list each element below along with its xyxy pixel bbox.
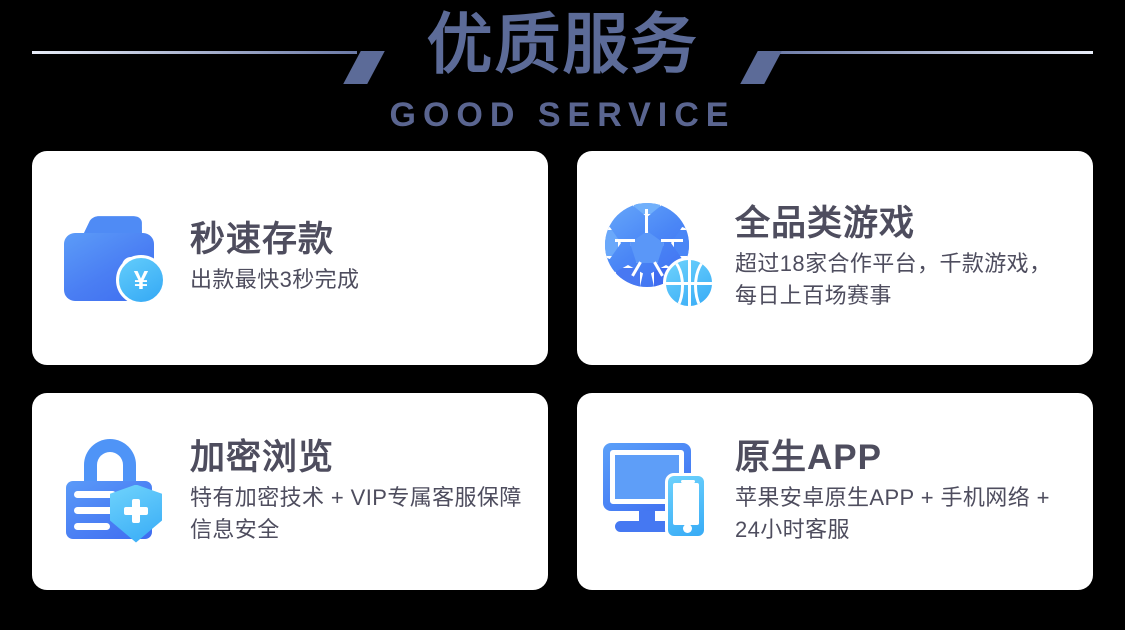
wallet-yen-icon: ¥ <box>58 199 176 317</box>
card-description: 苹果安卓原生APP + 手机网络 + 24小时客服 <box>735 482 1071 545</box>
lock-stripe <box>74 491 116 498</box>
card-description: 出款最快3秒完成 <box>190 264 526 296</box>
card-title: 原生APP <box>735 438 1071 477</box>
feature-card-games[interactable]: 全品类游戏 超过18家合作平台，千款游戏，每日上百场赛事 <box>577 151 1093 365</box>
card-description: 特有加密技术 + VIP专属客服保障信息安全 <box>190 482 526 545</box>
monitor-phone-icon <box>603 433 721 551</box>
card-title: 全品类游戏 <box>735 204 1071 243</box>
yen-coin-icon: ¥ <box>116 255 166 305</box>
soccer-panel <box>671 227 689 259</box>
basketball-icon <box>663 257 715 309</box>
feature-card-grid: ¥ 秒速存款 出款最快3秒完成 <box>32 151 1093 590</box>
soccer-center-pentagon <box>630 231 664 263</box>
card-text-block: 加密浏览 特有加密技术 + VIP专属客服保障信息安全 <box>190 438 526 546</box>
basketball-seam <box>694 257 715 309</box>
soccer-seam <box>615 239 635 242</box>
card-text-block: 秒速存款 出款最快3秒完成 <box>190 220 526 296</box>
page-title-en: GOOD SERVICE <box>0 96 1125 135</box>
lock-shield-icon <box>58 433 176 551</box>
phone-speaker <box>681 480 695 483</box>
soccer-seam <box>645 209 648 233</box>
card-text-block: 原生APP 苹果安卓原生APP + 手机网络 + 24小时客服 <box>735 438 1071 546</box>
smartphone-icon <box>665 473 707 539</box>
card-title: 秒速存款 <box>190 220 526 259</box>
page-title-cn: 优质服务 <box>0 6 1125 84</box>
phone-home-button <box>683 524 692 533</box>
soccer-seam <box>661 239 683 242</box>
soccer-panel <box>605 227 621 259</box>
basketball-seam <box>663 257 684 309</box>
feature-card-deposit[interactable]: ¥ 秒速存款 出款最快3秒完成 <box>32 151 548 365</box>
phone-screen <box>673 483 699 525</box>
feature-card-native-app[interactable]: 原生APP 苹果安卓原生APP + 手机网络 + 24小时客服 <box>577 393 1093 590</box>
cross-icon <box>124 499 148 523</box>
card-title: 加密浏览 <box>190 438 526 477</box>
card-description: 超过18家合作平台，千款游戏，每日上百场赛事 <box>735 248 1071 311</box>
lock-shackle-icon <box>84 439 136 487</box>
page-header: 优质服务 GOOD SERVICE <box>0 0 1125 140</box>
feature-card-encryption[interactable]: 加密浏览 特有加密技术 + VIP专属客服保障信息安全 <box>32 393 548 590</box>
card-text-block: 全品类游戏 超过18家合作平台，千款游戏，每日上百场赛事 <box>735 204 1071 312</box>
soccer-basketball-icon <box>603 199 721 317</box>
lock-stripe <box>74 523 110 530</box>
